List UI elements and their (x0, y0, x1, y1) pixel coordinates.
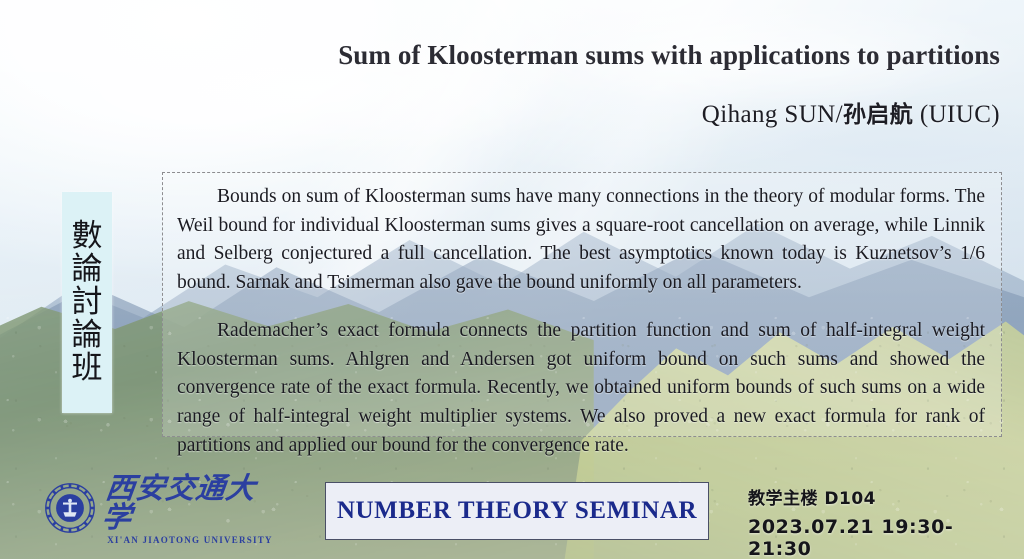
vertical-char-1: 數 (72, 221, 103, 252)
university-logo: 西安交通大学 XI'AN JIAOTONG UNIVERSITY (44, 479, 276, 537)
event-datetime: 2023.07.21 19:30-21:30 (748, 516, 1010, 559)
vertical-seminar-plate: 數 論 討 論 班 (62, 192, 112, 413)
seminar-poster: Sum of Kloosterman sums with application… (0, 0, 1024, 559)
university-name-english: XI'AN JIAOTONG UNIVERSITY (104, 536, 276, 545)
vertical-char-4: 論 (72, 320, 103, 351)
university-seal-icon (44, 482, 96, 534)
abstract-panel: Bounds on sum of Kloosterman sums have m… (162, 172, 1002, 437)
speaker-affiliation: (UIUC) (913, 101, 1000, 128)
vertical-char-5: 班 (72, 353, 103, 384)
poster-title: Sum of Kloosterman sums with application… (300, 40, 1000, 71)
event-details: 教学主楼 D104 2023.07.21 19:30-21:30 (748, 484, 1010, 559)
vertical-char-3: 討 (72, 287, 103, 318)
university-name-chinese: 西安交通大学 (100, 474, 279, 532)
abstract-paragraph-1: Bounds on sum of Kloosterman sums have m… (177, 183, 985, 297)
abstract-paragraph-2: Rademacher’s exact formula connects the … (177, 317, 985, 460)
speaker-name-latin: Qihang SUN/ (702, 101, 843, 128)
university-name-block: 西安交通大学 XI'AN JIAOTONG UNIVERSITY (104, 472, 276, 545)
vertical-char-2: 論 (72, 254, 103, 285)
speaker-name-chinese: 孙启航 (843, 102, 913, 128)
speaker-line: Qihang SUN/孙启航 (UIUC) (420, 95, 1000, 129)
seminar-banner-label: NUMBER THEORY SEMINAR (337, 497, 697, 525)
event-venue: 教学主楼 D104 (748, 484, 1010, 509)
seminar-banner: NUMBER THEORY SEMINAR (325, 482, 709, 540)
